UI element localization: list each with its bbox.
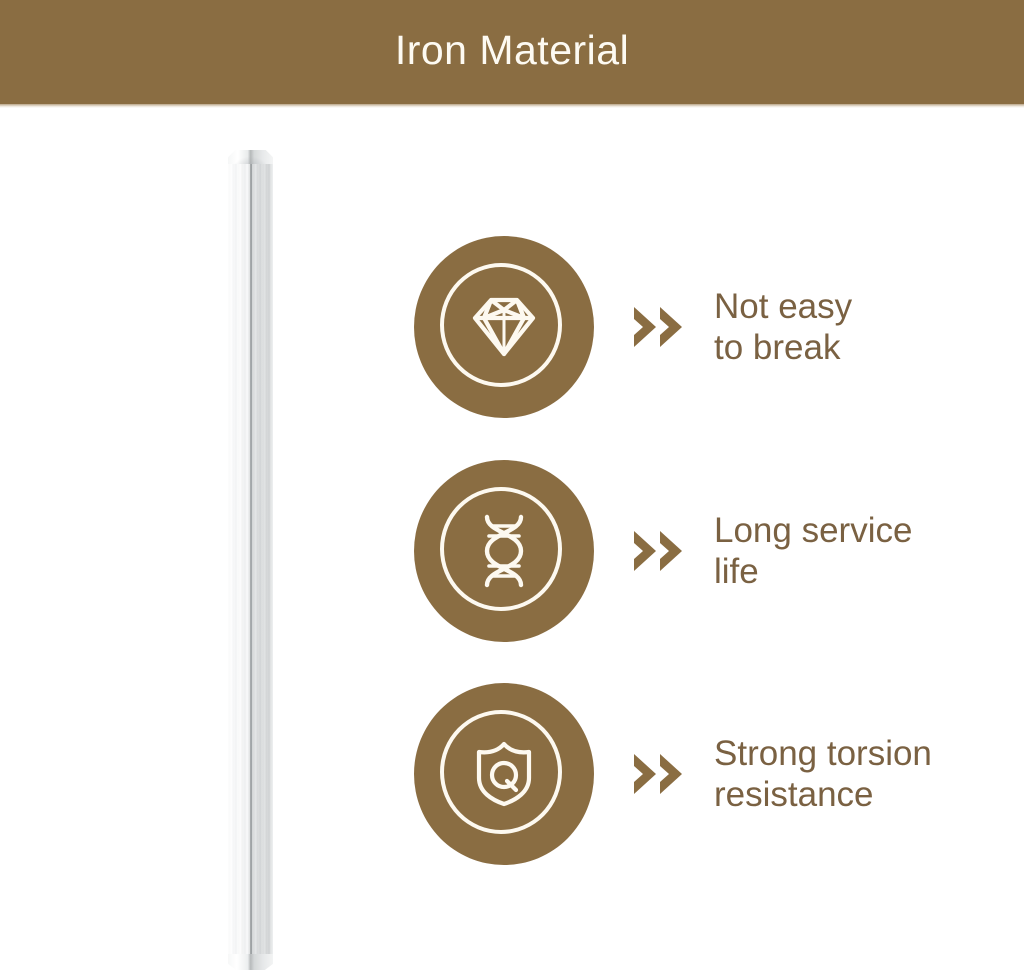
double-chevron-right-icon xyxy=(628,523,690,579)
rod-bottom-cap xyxy=(228,954,273,970)
double-chevron-right-icon xyxy=(628,746,690,802)
shield-quality-icon xyxy=(458,727,550,821)
page-title: Iron Material xyxy=(395,30,629,71)
feature-badge xyxy=(414,460,594,642)
feature-row: Long service life xyxy=(400,460,1024,642)
feature-list: Not easy to break Long xyxy=(400,108,1024,979)
feature-label: Not easy to break xyxy=(714,286,1024,369)
diamond-icon xyxy=(458,280,550,374)
feature-label: Strong torsion resistance xyxy=(714,733,1024,816)
feature-badge xyxy=(414,236,594,418)
feature-badge xyxy=(414,683,594,865)
product-image-area xyxy=(0,108,400,979)
rod-seam-line xyxy=(250,164,252,956)
feature-label: Long service life xyxy=(714,510,1024,593)
double-chevron-right-icon xyxy=(628,299,690,355)
metal-rod-image xyxy=(228,150,273,970)
feature-row: Not easy to break xyxy=(400,236,1024,418)
dna-helix-icon xyxy=(458,504,550,598)
header-banner: Iron Material xyxy=(0,0,1024,104)
feature-row: Strong torsion resistance xyxy=(400,683,1024,865)
